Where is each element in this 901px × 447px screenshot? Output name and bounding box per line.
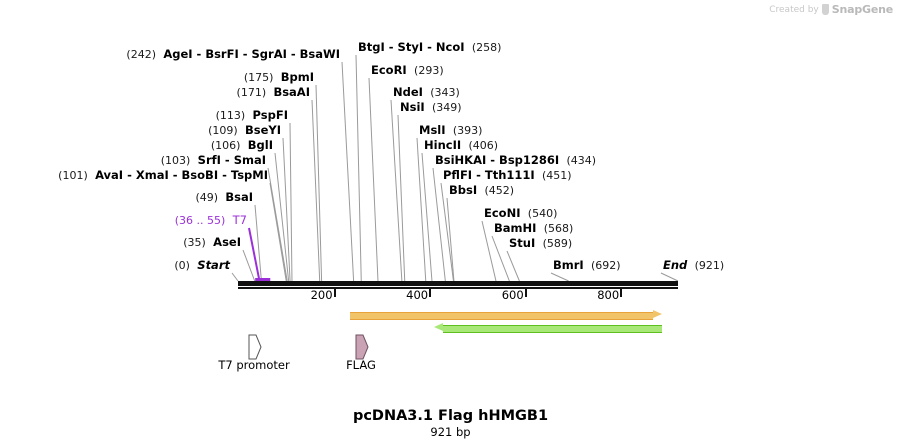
leader-line <box>342 62 354 281</box>
site-position: (113) <box>216 109 246 122</box>
site-label-hincii[interactable]: HincII (406) <box>424 139 498 152</box>
site-name: BsaI <box>225 190 253 204</box>
site-name: AvaI - XmaI - BsoBI - TspMI <box>95 168 268 182</box>
plasmid-map-canvas: Created by SnapGene (0) Start(35) AseI(3… <box>0 0 901 447</box>
leader-line <box>391 100 402 281</box>
site-position: (0) <box>174 259 190 272</box>
leader-line <box>249 228 259 281</box>
site-name: AgeI - BsrFI - SgrAI - BsaWI <box>163 47 340 61</box>
site-position: (258) <box>472 41 502 54</box>
site-label-econi[interactable]: EcoNI (540) <box>484 207 557 220</box>
leader-line <box>492 236 509 281</box>
site-label-ndei[interactable]: NdeI (343) <box>393 86 460 99</box>
site-position: (921) <box>695 259 725 272</box>
site-label-bgli[interactable]: (106) BglI <box>211 139 273 152</box>
leader-line <box>398 115 405 281</box>
snapgene-watermark: Created by SnapGene <box>769 3 893 16</box>
site-label-end[interactable]: End (921) <box>663 259 724 272</box>
site-name: BseYI <box>245 123 281 137</box>
site-label-bsaai[interactable]: (171) BsaAI <box>237 86 310 99</box>
leader-line <box>232 273 238 281</box>
page-title: pcDNA3.1 Flag hHMGB1 <box>0 408 901 424</box>
site-position: (434) <box>567 154 597 167</box>
site-position: (36 .. 55) <box>175 214 226 227</box>
site-label-t7[interactable]: (36 .. 55) T7 <box>175 214 247 227</box>
site-label-nsii[interactable]: NsiI (349) <box>400 101 462 114</box>
site-name: BmrI <box>553 258 584 272</box>
leader-line <box>447 198 454 281</box>
site-position: (171) <box>237 86 267 99</box>
site-position: (242) <box>126 48 156 61</box>
site-position: (451) <box>542 169 572 182</box>
site-label-avai[interactable]: (101) AvaI - XmaI - BsoBI - TspMI <box>58 169 268 182</box>
leader-line <box>417 138 426 281</box>
site-name: StuI <box>509 236 535 250</box>
site-position: (293) <box>414 64 444 77</box>
leader-line <box>290 123 292 281</box>
leader-line <box>422 153 432 281</box>
site-name: EcoNI <box>484 206 520 220</box>
feature-arrow-body <box>443 325 662 333</box>
site-position: (393) <box>453 124 483 137</box>
site-name: MslI <box>419 123 446 137</box>
site-label-bsihkai[interactable]: BsiHKAI - Bsp1286I (434) <box>435 154 596 167</box>
site-label-stui[interactable]: StuI (589) <box>509 237 572 250</box>
site-label-start[interactable]: (0) Start <box>174 259 230 272</box>
site-name: T7 <box>233 213 247 227</box>
site-name: BbsI <box>449 183 477 197</box>
site-position: (106) <box>211 139 241 152</box>
site-name: BsaAI <box>273 85 310 99</box>
glyph-shape <box>356 335 368 359</box>
glyph-label-flag-tag: FLAG <box>346 358 376 372</box>
watermark-prefix: Created by <box>769 5 819 15</box>
leader-line <box>283 138 290 281</box>
site-label-srfi[interactable]: (103) SrfI - SmaI <box>161 154 266 167</box>
leader-line <box>661 273 678 281</box>
site-label-mslii[interactable]: MslI (393) <box>419 124 482 137</box>
site-label-pflfi[interactable]: PflFI - Tth111I (451) <box>443 169 572 182</box>
leader-line <box>356 55 361 281</box>
leader-line <box>255 205 261 281</box>
site-label-bbsi[interactable]: BbsI (452) <box>449 184 514 197</box>
site-name: End <box>663 258 687 272</box>
ruler-tick <box>429 289 431 297</box>
site-position: (49) <box>195 191 218 204</box>
site-label-bsai[interactable]: (49) BsaI <box>195 191 253 204</box>
site-name: NsiI <box>400 100 425 114</box>
glyph-flag-tag[interactable] <box>354 334 370 360</box>
ruler-tick <box>525 289 527 297</box>
site-name: BsiHKAI - Bsp1286I <box>435 153 559 167</box>
site-label-btgi[interactable]: BtgI - StyI - NcoI (258) <box>358 41 501 54</box>
site-position: (540) <box>528 207 558 220</box>
site-name: SrfI - SmaI <box>198 153 266 167</box>
ruler-tick <box>620 289 622 297</box>
site-position: (406) <box>468 139 498 152</box>
leader-line <box>441 183 453 281</box>
site-name: BglI <box>248 138 273 152</box>
site-label-agei[interactable]: (242) AgeI - BsrFI - SgrAI - BsaWI <box>126 48 340 61</box>
leader-line <box>316 85 322 281</box>
ruler-tick-label: 400 <box>406 288 428 302</box>
ruler-tick-label: 200 <box>311 288 333 302</box>
site-label-pspfi[interactable]: (113) PspFI <box>216 109 288 122</box>
site-position: (589) <box>543 237 573 250</box>
site-name: BpmI <box>281 70 314 84</box>
leader-line <box>243 250 255 281</box>
site-position: (175) <box>244 71 274 84</box>
leader-line <box>275 153 289 281</box>
site-name: NdeI <box>393 85 423 99</box>
feature-arrow-head <box>653 310 662 318</box>
ruler-tick-label: 800 <box>597 288 619 302</box>
leader-lines <box>0 0 901 447</box>
sequence-backbone <box>238 281 678 286</box>
site-position: (101) <box>58 169 88 182</box>
site-name: HincII <box>424 138 461 152</box>
feature-arrow-green-feature[interactable] <box>434 323 662 332</box>
leader-line <box>433 168 445 281</box>
site-name: BtgI - StyI - NcoI <box>358 40 465 54</box>
site-position: (452) <box>484 184 514 197</box>
site-position: (343) <box>430 86 460 99</box>
site-position: (109) <box>208 124 238 137</box>
site-label-bamhi[interactable]: BamHI (568) <box>494 222 573 235</box>
site-name: AseI <box>213 235 241 249</box>
leader-line <box>551 273 569 281</box>
feature-arrow-orange-feature[interactable] <box>350 310 662 319</box>
site-label-bseyi[interactable]: (109) BseYI <box>208 124 281 137</box>
site-position: (349) <box>432 101 462 114</box>
site-label-ecori[interactable]: EcoRI (293) <box>371 64 444 77</box>
feature-arrow-head <box>434 323 443 331</box>
glyph-t7-promoter[interactable] <box>247 334 263 360</box>
site-label-bmri[interactable]: BmrI (692) <box>553 259 621 272</box>
glyph-label-t7-promoter: T7 promoter <box>218 358 289 372</box>
ruler-tick <box>334 289 336 297</box>
glyph-shape <box>249 335 261 359</box>
site-position: (568) <box>544 222 574 235</box>
feature-arrow-body <box>350 312 653 320</box>
site-position: (692) <box>591 259 621 272</box>
site-label-asei[interactable]: (35) AseI <box>183 236 241 249</box>
leader-line <box>312 100 320 281</box>
leader-line <box>268 168 287 281</box>
site-name: PspFI <box>253 108 288 122</box>
leader-line <box>369 78 378 281</box>
site-position: (35) <box>183 236 206 249</box>
plasmid-length: 921 bp <box>0 425 901 439</box>
watermark-brand: SnapGene <box>832 3 893 16</box>
site-name: EcoRI <box>371 63 407 77</box>
leader-line <box>270 183 286 281</box>
ruler-tick-label: 600 <box>502 288 524 302</box>
site-name: Start <box>197 258 230 272</box>
site-label-bpmi[interactable]: (175) BpmI <box>244 71 314 84</box>
leader-line <box>507 251 519 281</box>
site-name: BamHI <box>494 221 536 235</box>
site-position: (103) <box>161 154 191 167</box>
site-name: PflFI - Tth111I <box>443 168 535 182</box>
snapgene-logo-icon <box>822 4 829 15</box>
